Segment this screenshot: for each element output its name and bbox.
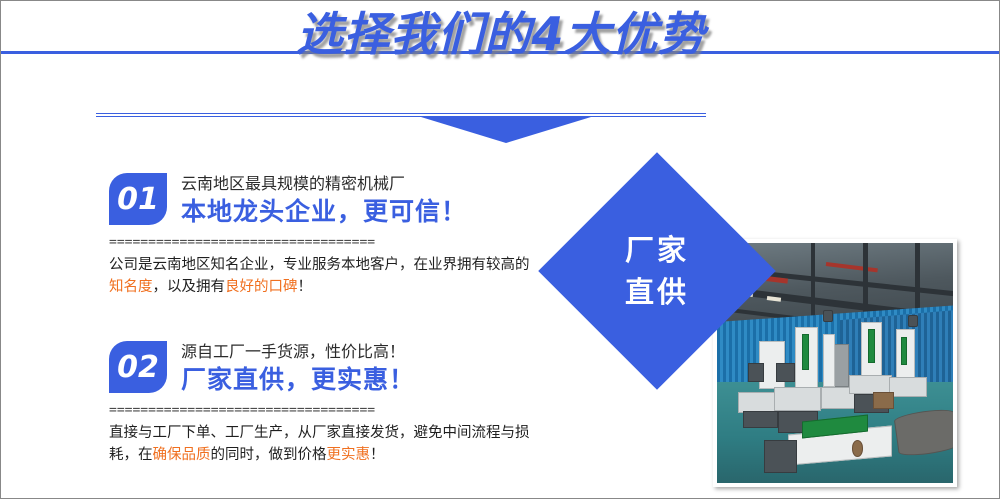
down-arrow-icon: [421, 117, 591, 143]
page-title: 选择我们的4大优势: [1, 9, 1000, 60]
body-text-run: ，以及拥有: [153, 279, 226, 295]
highlighted-text: 更实惠: [327, 447, 371, 463]
photo-machine-base: [743, 411, 778, 428]
advantage-item-01: 01 云南地区最具规模的精密机械厂 本地龙头企业，更可信！ ==========…: [109, 173, 549, 299]
advantage-item-02-body: 直接与工厂下单、工厂生产，从厂家直接发货，避免中间流程与损耗，在确保品质的同时，…: [109, 422, 534, 467]
highlighted-text: 知名度: [109, 279, 153, 295]
photo-lamp: [823, 310, 832, 322]
photo-machine-rail: [868, 329, 875, 363]
photo-bore: [852, 440, 864, 457]
advantage-item-01-punch: 本地龙头企业，更可信！: [181, 197, 467, 227]
photo-column: [863, 243, 868, 315]
advantage-item-02-lead: 源自工厂一手货源，性价比高！: [181, 342, 415, 362]
highlighted-text: 良好的口碑: [225, 279, 298, 295]
photo-machine-block: [764, 440, 797, 474]
advantage-item-02-divider: ==================================: [109, 404, 529, 417]
advantage-item-01-head: 01 云南地区最具规模的精密机械厂 本地龙头企业，更可信！: [109, 173, 549, 227]
body-text-run: ！: [370, 447, 385, 463]
advantage-item-02-headings: 源自工厂一手货源，性价比高！ 厂家直供，更实惠！: [181, 341, 415, 395]
photo-machine-base: [889, 377, 927, 396]
photo-column: [915, 243, 920, 310]
advantage-item-01-divider: ==================================: [109, 236, 529, 249]
photo-column: [811, 243, 815, 320]
section-double-rule: [96, 113, 706, 117]
advantage-item-02: 02 源自工厂一手货源，性价比高！ 厂家直供，更实惠！ ============…: [109, 341, 549, 467]
photo-machine: [823, 334, 835, 387]
photo-machine-rail: [901, 337, 907, 366]
body-text-run: 公司是云南地区知名企业，专业服务本地客户，在业界拥有较高: [109, 257, 515, 273]
body-text-run: 的: [515, 257, 530, 273]
photo-machine-part: [748, 363, 765, 382]
advantage-item-01-body: 公司是云南地区知名企业，专业服务本地客户，在业界拥有较高的知名度，以及拥有良好的…: [109, 254, 534, 299]
photo-machine-part: [776, 363, 795, 382]
promo-banner: 选择我们的4大优势 01 云南地区最具规模的精密机械厂 本地龙头企业，更可信！ …: [0, 0, 1000, 499]
photo-machine-rail: [802, 334, 809, 370]
badge-number-01: 01: [109, 173, 167, 225]
advantage-item-01-lead: 云南地区最具规模的精密机械厂: [181, 174, 467, 194]
photo-lamp: [908, 315, 917, 327]
advantage-item-02-head: 02 源自工厂一手货源，性价比高！ 厂家直供，更实惠！: [109, 341, 549, 395]
body-text-run: ！: [298, 279, 313, 295]
highlighted-text: 确保品质: [153, 447, 211, 463]
photo-machine-base: [774, 387, 821, 411]
advantage-item-02-punch: 厂家直供，更实惠！: [181, 365, 415, 395]
advantage-item-01-headings: 云南地区最具规模的精密机械厂 本地龙头企业，更可信！: [181, 173, 467, 227]
photo-pipe: [894, 407, 953, 458]
photo-crate: [873, 392, 894, 409]
body-text-run: 直接与工厂下单、工厂生产，从厂家直接发货，避免中间流程与: [109, 425, 515, 441]
body-text-run: 的同时，做到价格: [211, 447, 327, 463]
badge-number-02: 02: [109, 341, 167, 393]
